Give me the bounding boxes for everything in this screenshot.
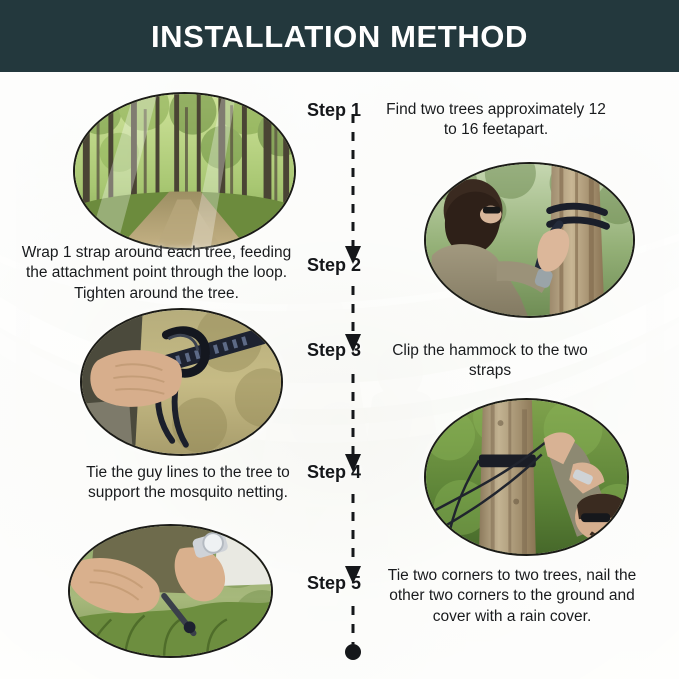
arrow-to-step-5 [345,566,361,584]
content-area: Step 1 Step 2 Step 3 Step 4 Step 5 Find … [0,0,679,679]
ground-stake-photo [68,524,273,658]
step-text-2: Wrap 1 strap around each tree, feeding t… [16,243,297,304]
header-bar: INSTALLATION METHOD [0,0,679,72]
step-connector-line [333,88,373,666]
carabiner-clip-photo [80,308,283,456]
installation-method-infographic: INSTALLATION METHOD [0,0,679,679]
step-text-1: Find two trees approximately 12 to 16 fe… [384,100,608,141]
connector-end-dot [345,644,361,660]
arrow-to-step-4 [345,454,361,472]
arrow-to-step-2 [345,246,361,264]
page-title: INSTALLATION METHOD [151,21,528,52]
guy-line-tie-photo [424,398,629,556]
step-text-5: Tie two corners to two trees, nail the o… [384,566,640,627]
step-text-4: Tie the guy lines to the tree to support… [74,463,302,504]
arrow-to-step-3 [345,334,361,352]
step-text-3: Clip the hammock to the two straps [384,341,596,382]
strap-around-tree-photo [424,162,635,318]
forest-trail-photo [73,92,296,250]
